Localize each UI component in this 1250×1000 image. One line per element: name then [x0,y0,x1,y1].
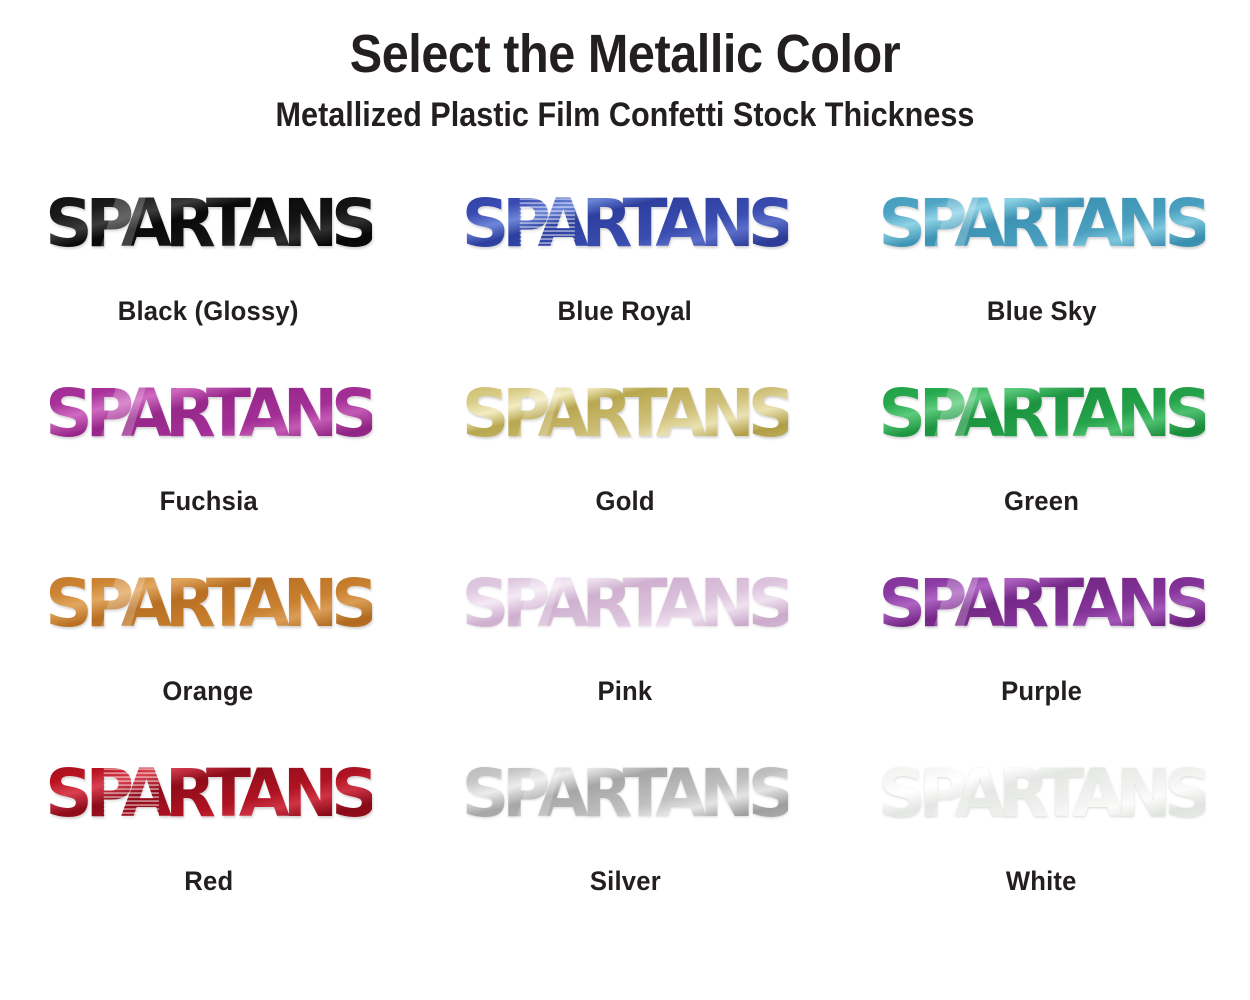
color-swatch-option[interactable]: SPARTANSPink [417,548,834,738]
color-swatch-label: Red [184,866,233,897]
color-swatch-option[interactable]: SPARTANSWhite [833,738,1250,928]
confetti-word-preview: SPARTANS [31,548,386,660]
confetti-word-shape: SPARTANS [462,755,789,832]
color-swatch-grid: SPARTANSBlack (Glossy)SPARTANSBlue Royal… [0,168,1250,928]
color-swatch-label: White [1006,866,1077,897]
color-swatch-label: Purple [1001,676,1082,707]
page-subtitle: Metallized Plastic Film Confetti Stock T… [63,97,1188,134]
color-swatch-option[interactable]: SPARTANSFuchsia [0,358,417,548]
color-swatch-label: Fuchsia [159,486,257,517]
color-swatch-option[interactable]: SPARTANSGreen [833,358,1250,548]
confetti-word-shape: SPARTANS [45,185,372,262]
confetti-word-preview: SPARTANS [864,738,1219,850]
confetti-word-preview: SPARTANS [31,358,386,470]
confetti-word-shape: SPARTANS [462,185,789,262]
color-swatch-option[interactable]: SPARTANSBlue Sky [833,168,1250,358]
confetti-word-preview: SPARTANS [31,738,386,850]
confetti-word-shape: SPARTANS [462,375,789,452]
color-swatch-option[interactable]: SPARTANSSilver [417,738,834,928]
color-swatch-label: Blue Sky [987,296,1097,327]
page-title: Select the Metallic Color [63,26,1188,83]
page-header: Select the Metallic Color Metallized Pla… [0,0,1250,134]
confetti-word-shape: SPARTANS [878,375,1205,452]
color-swatch-option[interactable]: SPARTANSRed [0,738,417,928]
confetti-word-shape: SPARTANS [45,755,372,832]
confetti-word-shape: SPARTANS [462,565,789,642]
color-swatch-option[interactable]: SPARTANSGold [417,358,834,548]
confetti-word-preview: SPARTANS [447,168,802,280]
color-swatch-label: Orange [163,676,254,707]
color-swatch-label: Gold [595,486,654,517]
color-swatch-option[interactable]: SPARTANSPurple [833,548,1250,738]
confetti-word-shape: SPARTANS [878,185,1205,262]
color-swatch-label: Silver [589,866,660,897]
confetti-word-preview: SPARTANS [864,358,1219,470]
confetti-word-preview: SPARTANS [864,548,1219,660]
confetti-word-shape: SPARTANS [878,565,1205,642]
confetti-word-preview: SPARTANS [447,548,802,660]
color-swatch-label: Pink [598,676,653,707]
color-swatch-label: Green [1004,486,1079,517]
color-swatch-option[interactable]: SPARTANSBlue Royal [417,168,834,358]
confetti-word-preview: SPARTANS [447,358,802,470]
confetti-word-shape: SPARTANS [45,375,372,452]
confetti-word-shape: SPARTANS [878,755,1205,832]
color-swatch-option[interactable]: SPARTANSOrange [0,548,417,738]
color-swatch-option[interactable]: SPARTANSBlack (Glossy) [0,168,417,358]
confetti-word-preview: SPARTANS [864,168,1219,280]
confetti-word-preview: SPARTANS [447,738,802,850]
confetti-word-preview: SPARTANS [31,168,386,280]
color-swatch-label: Black (Glossy) [118,296,299,327]
color-swatch-label: Blue Royal [558,296,692,327]
confetti-word-shape: SPARTANS [45,565,372,642]
